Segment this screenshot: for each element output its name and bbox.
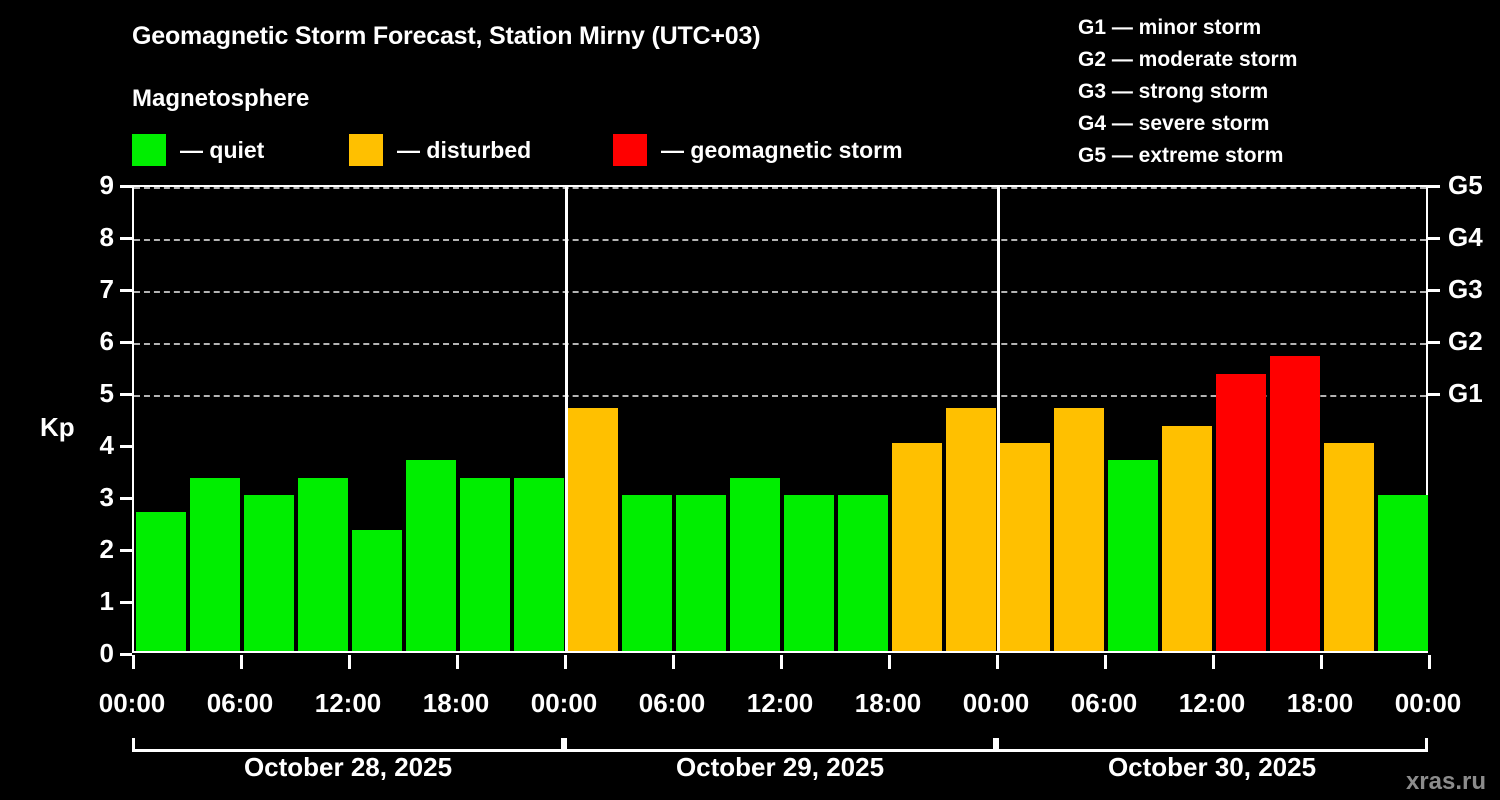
x-tick-label-2: 12:00 [315, 688, 382, 719]
g-tick-mark-g4 [1428, 237, 1440, 240]
g-tick-label-g4: G4 [1448, 224, 1483, 250]
y-tick-mark-2 [120, 549, 132, 552]
x-tick-mark-7 [888, 655, 891, 669]
x-tick-mark-4 [564, 655, 567, 669]
g-tick-label-g1: G1 [1448, 380, 1483, 406]
y-tick-mark-5 [120, 393, 132, 396]
x-tick-label-6: 12:00 [747, 688, 814, 719]
y-tick-label-6: 6 [80, 328, 114, 354]
bar-17[interactable] [1054, 408, 1104, 651]
bar-14[interactable] [892, 443, 942, 651]
y-tick-label-4: 4 [80, 432, 114, 458]
x-tick-label-1: 06:00 [207, 688, 274, 719]
legend-label-disturbed: — disturbed [397, 137, 531, 164]
day-label-1: October 29, 2025 [676, 752, 884, 783]
bar-3[interactable] [298, 478, 348, 651]
bar-10[interactable] [676, 495, 726, 651]
gridline-kp-6 [134, 343, 1426, 345]
y-tick-mark-1 [120, 601, 132, 604]
g-tick-mark-g1 [1428, 393, 1440, 396]
y-tick-mark-7 [120, 289, 132, 292]
x-tick-mark-1 [240, 655, 243, 669]
x-tick-label-4: 00:00 [531, 688, 598, 719]
y-tick-mark-8 [120, 237, 132, 240]
day-separator-2 [997, 187, 1000, 651]
g-scale-row-g5: G5 — extreme storm [1078, 140, 1297, 172]
day-label-2: October 30, 2025 [1108, 752, 1316, 783]
x-tick-label-0: 00:00 [99, 688, 166, 719]
gridline-kp-9 [134, 187, 1426, 189]
bar-15[interactable] [946, 408, 996, 651]
g-tick-mark-g3 [1428, 289, 1440, 292]
g-scale-row-g1: G1 — minor storm [1078, 12, 1297, 44]
day-label-0: October 28, 2025 [244, 752, 452, 783]
bar-7[interactable] [514, 478, 564, 651]
gridline-kp-8 [134, 239, 1426, 241]
bar-20[interactable] [1216, 374, 1266, 651]
legend-entry-quiet: — quiet [132, 133, 264, 167]
bar-23[interactable] [1378, 495, 1428, 651]
legend-label-quiet: — quiet [180, 137, 264, 164]
g-scale-row-g4: G4 — severe storm [1078, 108, 1297, 140]
y-tick-label-5: 5 [80, 380, 114, 406]
x-tick-mark-3 [456, 655, 459, 669]
y-tick-mark-6 [120, 341, 132, 344]
day-separator-1 [565, 187, 568, 651]
legend-entry-storm: — geomagnetic storm [613, 133, 903, 167]
y-tick-label-9: 9 [80, 172, 114, 198]
g-tick-label-g5: G5 [1448, 172, 1483, 198]
y-axis-title: Kp [40, 412, 75, 443]
y-tick-label-7: 7 [80, 276, 114, 302]
g-tick-mark-g5 [1428, 185, 1440, 188]
x-tick-mark-8 [996, 655, 999, 669]
bar-21[interactable] [1270, 356, 1320, 651]
bar-5[interactable] [406, 460, 456, 651]
g-tick-mark-g2 [1428, 341, 1440, 344]
x-tick-mark-12 [1428, 655, 1431, 669]
legend-entry-disturbed: — disturbed [349, 133, 531, 167]
bar-16[interactable] [1000, 443, 1050, 651]
y-tick-label-3: 3 [80, 484, 114, 510]
x-tick-mark-6 [780, 655, 783, 669]
gridline-kp-7 [134, 291, 1426, 293]
page-title: Geomagnetic Storm Forecast, Station Mirn… [132, 22, 760, 51]
bar-0[interactable] [136, 512, 186, 651]
y-tick-label-2: 2 [80, 536, 114, 562]
x-tick-label-12: 00:00 [1395, 688, 1462, 719]
x-tick-label-8: 00:00 [963, 688, 1030, 719]
x-tick-label-3: 18:00 [423, 688, 490, 719]
legend-swatch-storm-icon [613, 134, 647, 166]
legend-swatch-quiet-icon [132, 134, 166, 166]
section-label: Magnetosphere [132, 85, 309, 113]
g-scale-row-g3: G3 — strong storm [1078, 76, 1297, 108]
bar-8[interactable] [568, 408, 618, 651]
plot-inner [134, 187, 1426, 651]
y-tick-label-1: 1 [80, 588, 114, 614]
bar-4[interactable] [352, 530, 402, 651]
bar-12[interactable] [784, 495, 834, 651]
x-tick-label-9: 06:00 [1071, 688, 1138, 719]
day-bracket-2 [996, 738, 1428, 752]
g-scale-legend: G1 — minor stormG2 — moderate stormG3 — … [1078, 12, 1297, 172]
y-tick-label-8: 8 [80, 224, 114, 250]
y-tick-mark-0 [120, 653, 132, 656]
y-tick-mark-3 [120, 497, 132, 500]
bar-19[interactable] [1162, 426, 1212, 651]
x-tick-mark-5 [672, 655, 675, 669]
g-tick-label-g2: G2 [1448, 328, 1483, 354]
bar-9[interactable] [622, 495, 672, 651]
legend-label-storm: — geomagnetic storm [661, 137, 903, 164]
x-tick-label-7: 18:00 [855, 688, 922, 719]
bar-6[interactable] [460, 478, 510, 651]
y-tick-mark-9 [120, 185, 132, 188]
bar-11[interactable] [730, 478, 780, 651]
bar-1[interactable] [190, 478, 240, 651]
bar-22[interactable] [1324, 443, 1374, 651]
x-tick-label-5: 06:00 [639, 688, 706, 719]
plot-area [132, 185, 1428, 653]
x-tick-mark-9 [1104, 655, 1107, 669]
y-tick-label-0: 0 [80, 640, 114, 666]
watermark: xras.ru [1406, 768, 1486, 796]
bar-13[interactable] [838, 495, 888, 651]
g-tick-label-g3: G3 [1448, 276, 1483, 302]
x-tick-label-11: 18:00 [1287, 688, 1354, 719]
x-tick-mark-10 [1212, 655, 1215, 669]
x-tick-label-10: 12:00 [1179, 688, 1246, 719]
y-tick-mark-4 [120, 445, 132, 448]
bar-18[interactable] [1108, 460, 1158, 651]
x-tick-mark-11 [1320, 655, 1323, 669]
x-tick-mark-0 [132, 655, 135, 669]
day-bracket-1 [564, 738, 996, 752]
bar-2[interactable] [244, 495, 294, 651]
legend-swatch-disturbed-icon [349, 134, 383, 166]
x-tick-mark-2 [348, 655, 351, 669]
g-scale-row-g2: G2 — moderate storm [1078, 44, 1297, 76]
day-bracket-0 [132, 738, 564, 752]
